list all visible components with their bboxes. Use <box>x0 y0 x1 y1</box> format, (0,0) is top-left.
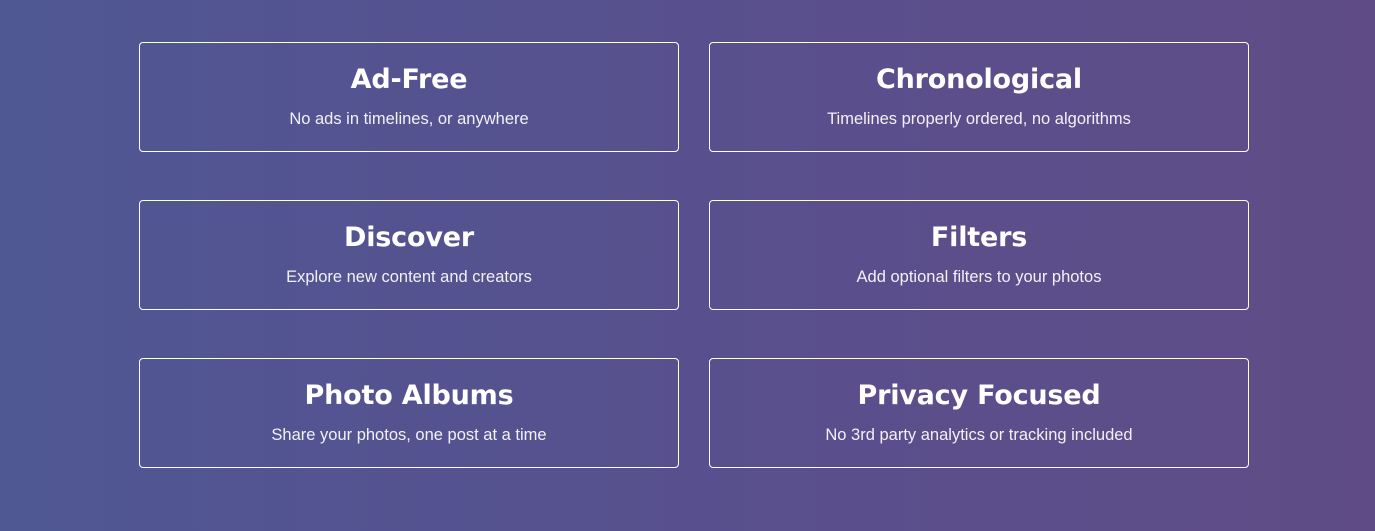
features-grid: Ad-Free No ads in timelines, or anywhere… <box>139 42 1249 468</box>
feature-card-title: Photo Albums <box>305 380 514 411</box>
feature-card-ad-free[interactable]: Ad-Free No ads in timelines, or anywhere <box>139 42 679 152</box>
feature-card-photo-albums[interactable]: Photo Albums Share your photos, one post… <box>139 358 679 468</box>
feature-card-title: Ad-Free <box>351 64 468 95</box>
feature-card-filters[interactable]: Filters Add optional filters to your pho… <box>709 200 1249 310</box>
feature-card-chronological[interactable]: Chronological Timelines properly ordered… <box>709 42 1249 152</box>
feature-card-privacy-focused[interactable]: Privacy Focused No 3rd party analytics o… <box>709 358 1249 468</box>
feature-card-title: Discover <box>344 222 474 253</box>
feature-card-title: Chronological <box>876 64 1082 95</box>
feature-card-description: No 3rd party analytics or tracking inclu… <box>825 426 1132 446</box>
feature-card-description: Add optional filters to your photos <box>857 268 1102 288</box>
features-section: Ad-Free No ads in timelines, or anywhere… <box>0 0 1375 531</box>
feature-card-description: Timelines properly ordered, no algorithm… <box>827 110 1131 130</box>
feature-card-title: Privacy Focused <box>857 380 1100 411</box>
feature-card-title: Filters <box>931 222 1027 253</box>
feature-card-discover[interactable]: Discover Explore new content and creator… <box>139 200 679 310</box>
feature-card-description: No ads in timelines, or anywhere <box>289 110 528 130</box>
feature-card-description: Explore new content and creators <box>286 268 532 288</box>
feature-card-description: Share your photos, one post at a time <box>271 426 546 446</box>
